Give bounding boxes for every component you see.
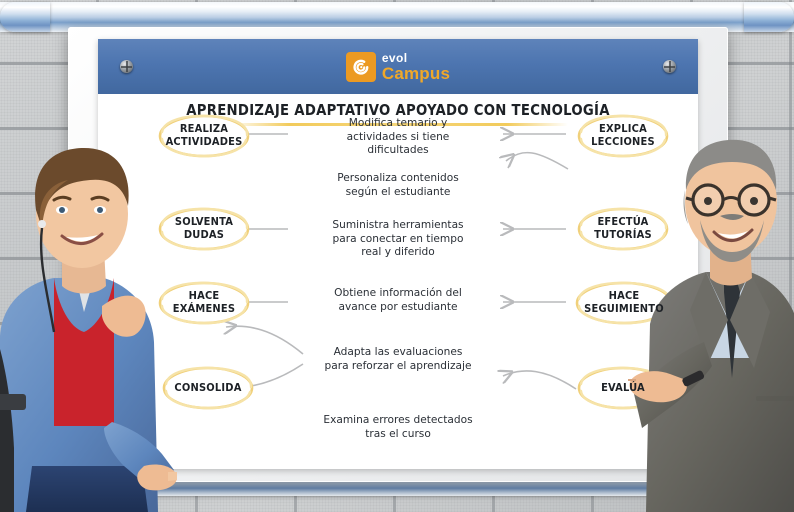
center-text-6: Examina errores detectados tras el curso bbox=[323, 414, 473, 441]
bubble-line-2: SEGUIMIENTO bbox=[576, 302, 672, 315]
center-text-1: Modifica temario y actividades si tiene … bbox=[323, 117, 473, 158]
evol-campus-logo: evol Campus bbox=[346, 52, 450, 82]
screw-icon-right bbox=[663, 60, 676, 73]
top-rail-right-cap bbox=[744, 2, 794, 32]
logo-campus-text: Campus bbox=[382, 65, 450, 82]
arrow-left-curve-1 bbox=[226, 326, 303, 354]
arrow-right-curve-1 bbox=[506, 153, 568, 169]
bubble-line-1: CONSOLIDA bbox=[166, 382, 249, 395]
center-text-5: Adapta las evaluaciones para reforzar el… bbox=[323, 346, 473, 373]
center-text-2: Personaliza contenidos según el estudian… bbox=[323, 172, 473, 199]
bubble-line-1: EFECTÚA bbox=[589, 215, 656, 228]
bubble-line-2: EXÁMENES bbox=[165, 302, 243, 315]
arrow-right-curve-2 bbox=[503, 371, 576, 389]
center-text-4: Obtiene información del avance por estud… bbox=[323, 287, 473, 314]
bubble-line-1: EXPLICA bbox=[591, 122, 655, 135]
top-rail-left-cap bbox=[0, 2, 50, 32]
bubble-line-1: HACE bbox=[181, 289, 228, 302]
bubble-line-2: TUTORÍAS bbox=[586, 228, 660, 241]
center-text-3: Suministra herramientas para conectar en… bbox=[323, 219, 473, 260]
bubble-line-2: DUDAS bbox=[176, 228, 232, 241]
teacher-photo bbox=[628, 128, 794, 512]
bubble-line-1: HACE bbox=[601, 289, 648, 302]
bubble-line-2: ACTIVIDADES bbox=[158, 135, 251, 148]
whiteboard-surface: evol Campus APRENDIZAJE ADAPTATIVO APOYA… bbox=[98, 39, 698, 469]
bubble-line-1: SOLVENTA bbox=[167, 215, 241, 228]
student-photo bbox=[0, 136, 177, 512]
bubble-line-1: REALIZA bbox=[172, 122, 236, 135]
logo-evol-text: evol bbox=[382, 52, 450, 64]
bubble-line-1: EVALÚA bbox=[593, 382, 653, 395]
evol-spiral-icon bbox=[346, 52, 376, 82]
bubble-line-2: LECCIONES bbox=[583, 135, 663, 148]
board-header-bar: evol Campus bbox=[98, 39, 698, 94]
screw-icon-left bbox=[120, 60, 133, 73]
